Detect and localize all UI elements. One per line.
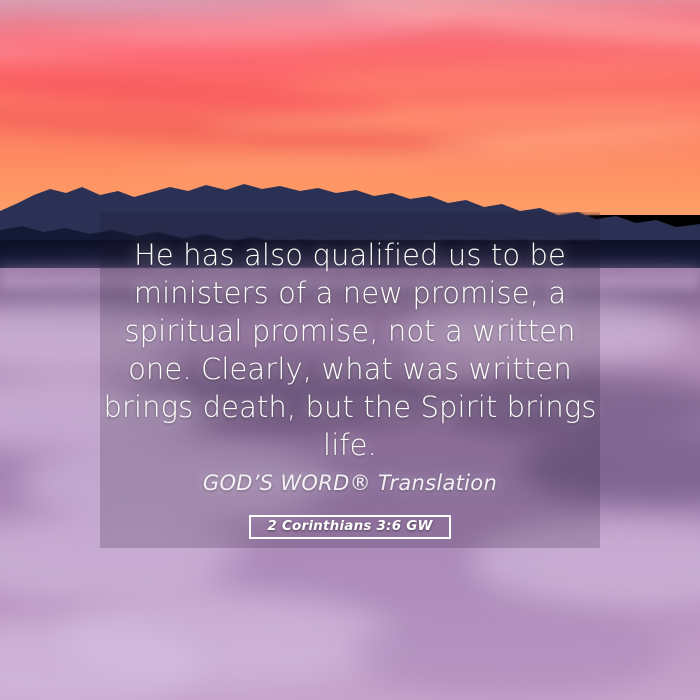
scripture-reference-badge: 2 Corinthians 3:6 GW	[249, 515, 450, 539]
cloud-streak	[280, 52, 700, 101]
verse-image-canvas: He has also qualified us to be ministers…	[0, 0, 700, 700]
verse-text: He has also qualified us to be ministers…	[100, 236, 600, 464]
reference-badge-wrapper: 2 Corinthians 3:6 GW	[100, 515, 600, 539]
cloud-puff	[350, 604, 670, 696]
translation-attribution: GOD’S WORD® Translation	[100, 471, 600, 495]
